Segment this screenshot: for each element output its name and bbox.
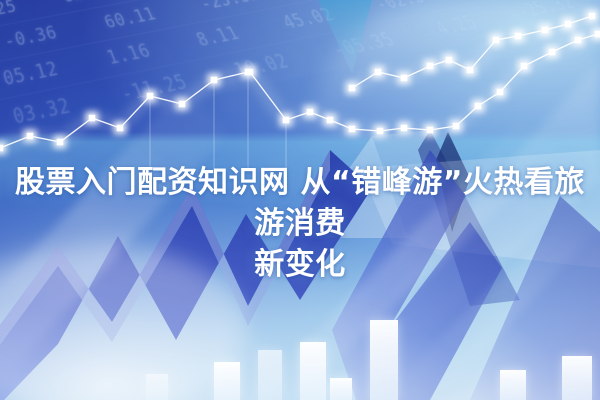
chart-node bbox=[595, 31, 600, 38]
chart-node bbox=[117, 125, 124, 132]
chart-droplines bbox=[150, 72, 286, 170]
chart-node bbox=[521, 63, 528, 70]
chart-node bbox=[549, 49, 556, 56]
chart-node bbox=[467, 67, 474, 74]
chart-node bbox=[375, 69, 382, 76]
chart-node bbox=[589, 13, 596, 20]
chart-node bbox=[307, 109, 314, 116]
chart-node bbox=[575, 37, 582, 44]
chart-node bbox=[89, 115, 96, 122]
chart-node bbox=[475, 103, 482, 110]
chart-node bbox=[401, 125, 408, 132]
chart-node bbox=[453, 123, 460, 130]
page-title: 股票入门配资知识网 从“错峰游”火热看旅游消费 新变化 bbox=[0, 162, 600, 285]
chart-node bbox=[57, 139, 64, 146]
chart-node bbox=[327, 117, 334, 124]
chart-node bbox=[515, 33, 522, 40]
chart-node bbox=[446, 57, 453, 64]
chart-node bbox=[401, 75, 408, 82]
chart-node bbox=[542, 27, 549, 34]
title-line-2: 新变化 bbox=[254, 247, 346, 282]
chart-node bbox=[565, 21, 572, 28]
chart-node bbox=[427, 127, 434, 134]
chart-node bbox=[349, 126, 356, 133]
chart-node bbox=[377, 128, 384, 135]
chart-node bbox=[0, 145, 3, 152]
chart-node bbox=[349, 85, 356, 92]
chart-node bbox=[497, 89, 504, 96]
chart-node bbox=[179, 101, 186, 108]
chart-node bbox=[427, 63, 434, 70]
title-line-1: 股票入门配资知识网 从“错峰游”火热看旅游消费 bbox=[15, 165, 585, 241]
chart-node bbox=[493, 37, 500, 44]
chart-node bbox=[27, 133, 34, 140]
banner-image: -05.35-11.25+5.02-02.36-50.02-25.3221.15… bbox=[0, 0, 600, 400]
